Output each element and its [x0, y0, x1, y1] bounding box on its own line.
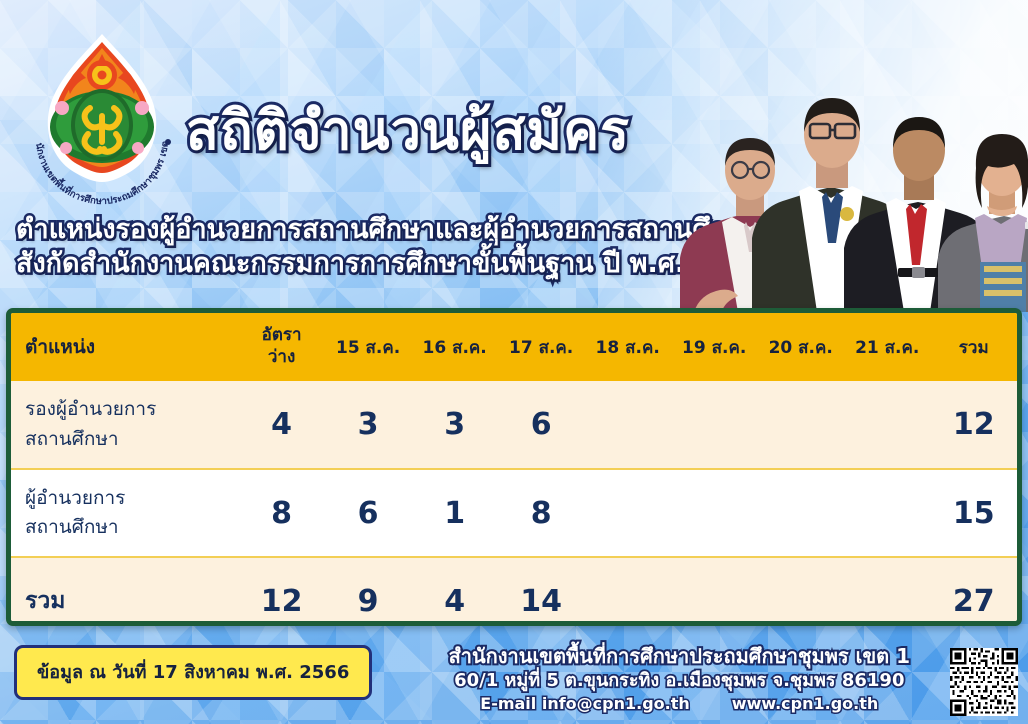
table-header-row: ตำแหน่ง อัตรา ว่าง 15 ส.ค. 16 ส.ค. 17 ส.…	[11, 313, 1017, 381]
cell-total-aug-20	[757, 557, 844, 626]
row-label-total: รวม	[11, 557, 238, 626]
col-header-aug-19: 19 ส.ค.	[671, 313, 758, 381]
data-as-of-badge: ข้อมูล ณ วันที่ 17 สิงหาคม พ.ศ. 2566	[14, 645, 372, 700]
col-header-aug-21: 21 ส.ค.	[844, 313, 931, 381]
table-total-row: รวม 12 9 4 14 27	[11, 557, 1017, 626]
cell-total-aug-16: 4	[411, 557, 498, 626]
col-header-total: รวม	[930, 313, 1017, 381]
subtitle-line-1: ตำแหน่งรองผู้อำนวยการสถานศึกษาและผู้อำนว…	[16, 213, 716, 247]
cell-total-aug-21	[844, 557, 931, 626]
subtitle-line-2: สังกัดสำนักงานคณะกรรมการการศึกษาขั้นพื้น…	[16, 247, 716, 281]
organization-contact: E-mail info@cpn1.go.th www.cpn1.go.th	[449, 693, 910, 715]
cell-total-aug-18	[584, 557, 671, 626]
cell-deputy-aug-21	[844, 381, 931, 469]
table-head: ตำแหน่ง อัตรา ว่าง 15 ส.ค. 16 ส.ค. 17 ส.…	[11, 313, 1017, 381]
cell-director-aug-19	[671, 469, 758, 557]
table-body: รองผู้อำนวยการ สถานศึกษา 4 3 3 6 12 ผู้อ…	[11, 381, 1017, 626]
poster-canvas: สำนักงานเขตพื้นที่การศึกษาประถมศึกษาชุมพ…	[0, 0, 1028, 724]
cell-director-vacancy: 8	[238, 469, 325, 557]
col-header-aug-20: 20 ส.ค.	[757, 313, 844, 381]
cell-deputy-total: 12	[930, 381, 1017, 469]
col-header-aug-18: 18 ส.ค.	[584, 313, 671, 381]
applicant-statistics-table: ตำแหน่ง อัตรา ว่าง 15 ส.ค. 16 ส.ค. 17 ส.…	[11, 313, 1017, 626]
col-header-vacancy-line1: อัตรา	[262, 325, 302, 347]
organization-website[interactable]: www.cpn1.go.th	[732, 693, 879, 715]
cell-director-aug-17: 8	[498, 469, 585, 557]
cell-deputy-aug-17: 6	[498, 381, 585, 469]
col-header-position: ตำแหน่ง	[11, 313, 238, 381]
cell-deputy-aug-18	[584, 381, 671, 469]
organization-email: E-mail info@cpn1.go.th	[480, 693, 690, 715]
cell-director-aug-20	[757, 469, 844, 557]
row-label-director: ผู้อำนวยการ สถานศึกษา	[11, 469, 238, 557]
organization-info: สำนักงานเขตพื้นที่การศึกษาประถมศึกษาชุมพ…	[449, 644, 910, 715]
row-label-line2: สถานศึกษา	[25, 513, 238, 542]
cell-director-aug-18	[584, 469, 671, 557]
page-title: สถิติจำนวนผู้สมัคร	[186, 104, 630, 158]
col-header-aug-16: 16 ส.ค.	[411, 313, 498, 381]
cell-total-aug-15: 9	[325, 557, 412, 626]
qr-code[interactable]	[948, 648, 1020, 716]
header-section: สำนักงานเขตพื้นที่การศึกษาประถมศึกษาชุมพ…	[0, 0, 1028, 312]
cell-total-aug-19	[671, 557, 758, 626]
obec-emblem-logo: สำนักงานเขตพื้นที่การศึกษาประถมศึกษาชุมพ…	[22, 30, 182, 205]
cell-total-vacancy: 12	[238, 557, 325, 626]
cell-total-total: 27	[930, 557, 1017, 626]
cell-director-aug-21	[844, 469, 931, 557]
col-header-vacancy-line2: ว่าง	[268, 347, 295, 369]
cell-deputy-aug-15: 3	[325, 381, 412, 469]
cell-director-aug-15: 6	[325, 469, 412, 557]
executives-photo	[676, 62, 1028, 312]
row-label-deputy-director: รองผู้อำนวยการ สถานศึกษา	[11, 381, 238, 469]
col-header-aug-17: 17 ส.ค.	[498, 313, 585, 381]
col-header-aug-15: 15 ส.ค.	[325, 313, 412, 381]
cell-deputy-aug-16: 3	[411, 381, 498, 469]
organization-address: 60/1 หมู่ที่ 5 ต.ขุนกระทิง อ.เมืองชุมพร …	[449, 669, 910, 693]
organization-name: สำนักงานเขตพื้นที่การศึกษาประถมศึกษาชุมพ…	[449, 644, 910, 669]
row-label-line2: สถานศึกษา	[25, 425, 238, 454]
cell-deputy-vacancy: 4	[238, 381, 325, 469]
cell-deputy-aug-20	[757, 381, 844, 469]
row-label-line1: รองผู้อำนวยการ	[25, 398, 156, 420]
cell-total-aug-17: 14	[498, 557, 585, 626]
cell-director-aug-16: 1	[411, 469, 498, 557]
statistics-table-container: ตำแหน่ง อัตรา ว่าง 15 ส.ค. 16 ส.ค. 17 ส.…	[6, 308, 1022, 626]
cell-deputy-aug-19	[671, 381, 758, 469]
col-header-vacancy: อัตรา ว่าง	[238, 313, 325, 381]
table-row: รองผู้อำนวยการ สถานศึกษา 4 3 3 6 12	[11, 381, 1017, 469]
subtitle-block: ตำแหน่งรองผู้อำนวยการสถานศึกษาและผู้อำนว…	[16, 213, 716, 281]
row-label-line1: ผู้อำนวยการ	[25, 487, 125, 509]
row-label-line1: รวม	[25, 588, 65, 614]
cell-director-total: 15	[930, 469, 1017, 557]
table-row: ผู้อำนวยการ สถานศึกษา 8 6 1 8 15	[11, 469, 1017, 557]
